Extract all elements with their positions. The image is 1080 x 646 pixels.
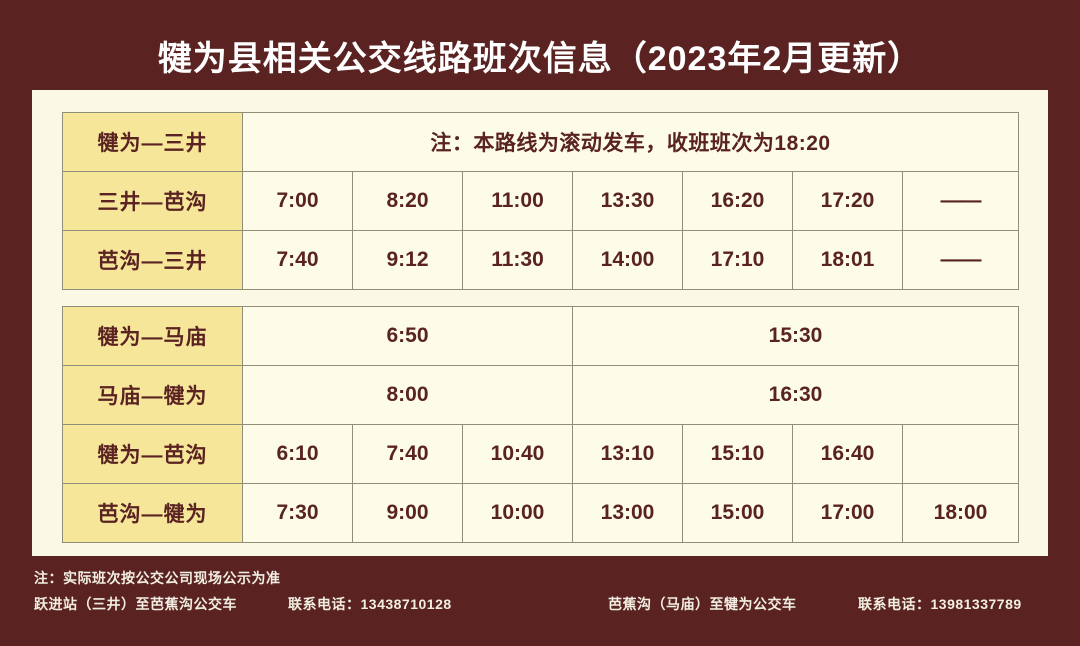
table-row: 芭沟—三井 7:40 9:12 11:30 14:00 17:10 18:01 …: [63, 231, 1019, 290]
table-row: 犍为—三井 注：本路线为滚动发车，收班班次为18:20: [63, 113, 1019, 172]
poster-title-bar: 犍为县相关公交线路班次信息（2023年2月更新）: [0, 24, 1080, 86]
departure-time: 7:40: [353, 425, 463, 484]
departure-time: 7:40: [243, 231, 353, 290]
page-title: 犍为县相关公交线路班次信息（2023年2月更新）: [158, 31, 923, 80]
footer-left-route-label: 跃进站（三井）至芭蕉沟公交车: [34, 594, 237, 614]
route-note: 注：本路线为滚动发车，收班班次为18:20: [243, 113, 1019, 172]
departure-time: 15:30: [573, 307, 1019, 366]
departure-time: 14:00: [573, 231, 683, 290]
departure-time: 16:40: [793, 425, 903, 484]
departure-time: 6:50: [243, 307, 573, 366]
footer-right-route-label: 芭蕉沟（马庙）至犍为公交车: [608, 594, 797, 614]
departure-time: 13:10: [573, 425, 683, 484]
departure-time: 11:30: [463, 231, 573, 290]
footer-note: 注：实际班次按公交公司现场公示为准: [34, 568, 281, 588]
departure-time: 18:01: [793, 231, 903, 290]
departure-time-none: ——: [903, 231, 1019, 290]
departure-time: 10:00: [463, 484, 573, 543]
departure-time: 9:12: [353, 231, 463, 290]
table-row: 三井—芭沟 7:00 8:20 11:00 13:30 16:20 17:20 …: [63, 172, 1019, 231]
departure-time: 18:00: [903, 484, 1019, 543]
departure-time: 17:10: [683, 231, 793, 290]
bus-schedule-poster: 犍为县相关公交线路班次信息（2023年2月更新） 犍为—三井 注：本路线为滚动发…: [0, 0, 1080, 646]
route-label: 犍为—芭沟: [63, 425, 243, 484]
departure-time-none: ——: [903, 172, 1019, 231]
departure-time: 8:20: [353, 172, 463, 231]
departure-time-empty: [903, 425, 1019, 484]
departure-time: 15:00: [683, 484, 793, 543]
departure-time: 16:30: [573, 366, 1019, 425]
departure-time: 11:00: [463, 172, 573, 231]
departure-time: 13:30: [573, 172, 683, 231]
table-row: 犍为—芭沟 6:10 7:40 10:40 13:10 15:10 16:40: [63, 425, 1019, 484]
departure-time: 13:00: [573, 484, 683, 543]
departure-time: 15:10: [683, 425, 793, 484]
poster-footer: 注：实际班次按公交公司现场公示为准 跃进站（三井）至芭蕉沟公交车 联系电话：13…: [0, 562, 1080, 646]
schedule-table-sanjing: 犍为—三井 注：本路线为滚动发车，收班班次为18:20 三井—芭沟 7:00 8…: [62, 112, 1019, 290]
footer-right-phone: 联系电话：13981337789: [858, 594, 1022, 614]
schedule-card: 犍为—三井 注：本路线为滚动发车，收班班次为18:20 三井—芭沟 7:00 8…: [32, 90, 1048, 556]
departure-time: 17:20: [793, 172, 903, 231]
schedule-table-miao-bagou: 犍为—马庙 6:50 15:30 马庙—犍为 8:00 16:30 犍为—芭沟 …: [62, 306, 1019, 543]
table-spacer: [62, 290, 1018, 306]
departure-time: 6:10: [243, 425, 353, 484]
table-row: 芭沟—犍为 7:30 9:00 10:00 13:00 15:00 17:00 …: [63, 484, 1019, 543]
departure-time: 9:00: [353, 484, 463, 543]
route-label: 三井—芭沟: [63, 172, 243, 231]
route-label: 芭沟—犍为: [63, 484, 243, 543]
table-row: 犍为—马庙 6:50 15:30: [63, 307, 1019, 366]
route-label: 马庙—犍为: [63, 366, 243, 425]
footer-left-phone: 联系电话：13438710128: [288, 594, 452, 614]
footer-contact-row: 跃进站（三井）至芭蕉沟公交车 联系电话：13438710128 芭蕉沟（马庙）至…: [0, 594, 1080, 618]
departure-time: 17:00: [793, 484, 903, 543]
departure-time: 16:20: [683, 172, 793, 231]
table-row: 马庙—犍为 8:00 16:30: [63, 366, 1019, 425]
departure-time: 10:40: [463, 425, 573, 484]
route-label: 犍为—三井: [63, 113, 243, 172]
route-label: 犍为—马庙: [63, 307, 243, 366]
departure-time: 7:00: [243, 172, 353, 231]
departure-time: 8:00: [243, 366, 573, 425]
route-label: 芭沟—三井: [63, 231, 243, 290]
departure-time: 7:30: [243, 484, 353, 543]
